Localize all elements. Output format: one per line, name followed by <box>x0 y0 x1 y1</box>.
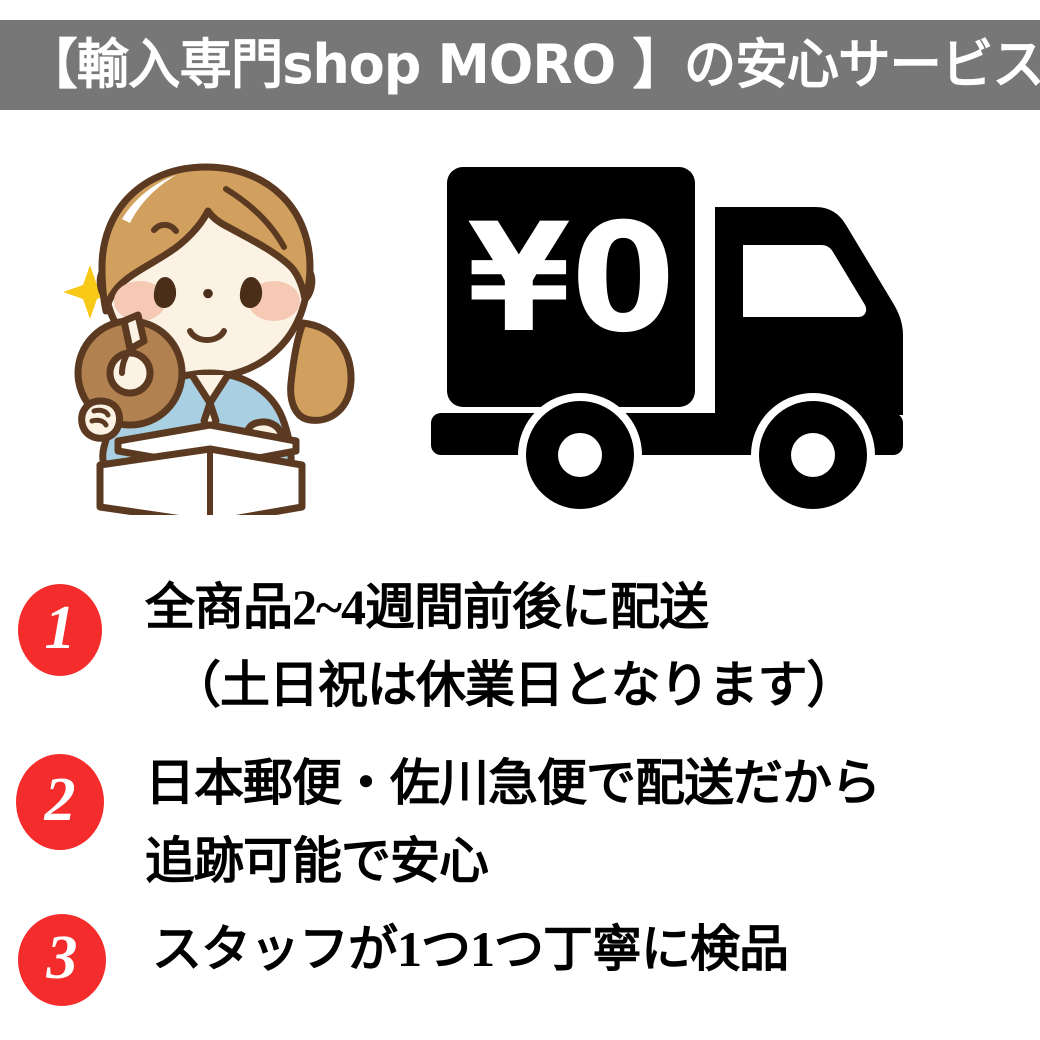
list-item-text-2: 日本郵便・佐川急便で配送だから 追跡可能で安心 <box>145 744 1025 900</box>
service-list: 1 全商品2~4週間前後に配送 （土日祝は休業日となります） 2 日本郵便・佐川… <box>0 548 1040 1040</box>
list-item-line: 追跡可能で安心 <box>145 822 1025 900</box>
list-item-line: （土日祝は休業日となります） <box>145 646 1025 724</box>
woman-packing-box-illustration <box>60 155 390 515</box>
list-item-text-3: スタッフが1つ1つ丁寧に検品 <box>152 910 1032 988</box>
list-number-badge-1: 1 <box>18 584 102 676</box>
list-item: 2 日本郵便・佐川急便で配送だから 追跡可能で安心 <box>0 740 1040 900</box>
service-info-banner: 【輸入専門shop MORO 】の安心サービス <box>0 0 1040 1040</box>
list-item: 3 スタッフが1つ1つ丁寧に検品 <box>0 906 1040 1036</box>
list-item-line: 日本郵便・佐川急便で配送だから <box>145 744 1025 822</box>
header-banner: 【輸入専門shop MORO 】の安心サービス <box>0 20 1040 110</box>
list-item-line: スタッフが1つ1つ丁寧に検品 <box>152 910 1032 988</box>
list-number-badge-2: 2 <box>16 754 104 850</box>
truck-price-label: ¥0 <box>467 192 676 366</box>
page-title: 【輸入専門shop MORO 】の安心サービス <box>0 20 1040 110</box>
list-item-line: 全商品2~4週間前後に配送 <box>145 568 1025 646</box>
free-shipping-truck-icon: ¥0 <box>425 155 945 515</box>
list-item-text-1: 全商品2~4週間前後に配送 （土日祝は休業日となります） <box>145 568 1025 724</box>
list-item: 1 全商品2~4週間前後に配送 （土日祝は休業日となります） <box>0 556 1040 726</box>
list-number-badge-3: 3 <box>18 914 106 1006</box>
